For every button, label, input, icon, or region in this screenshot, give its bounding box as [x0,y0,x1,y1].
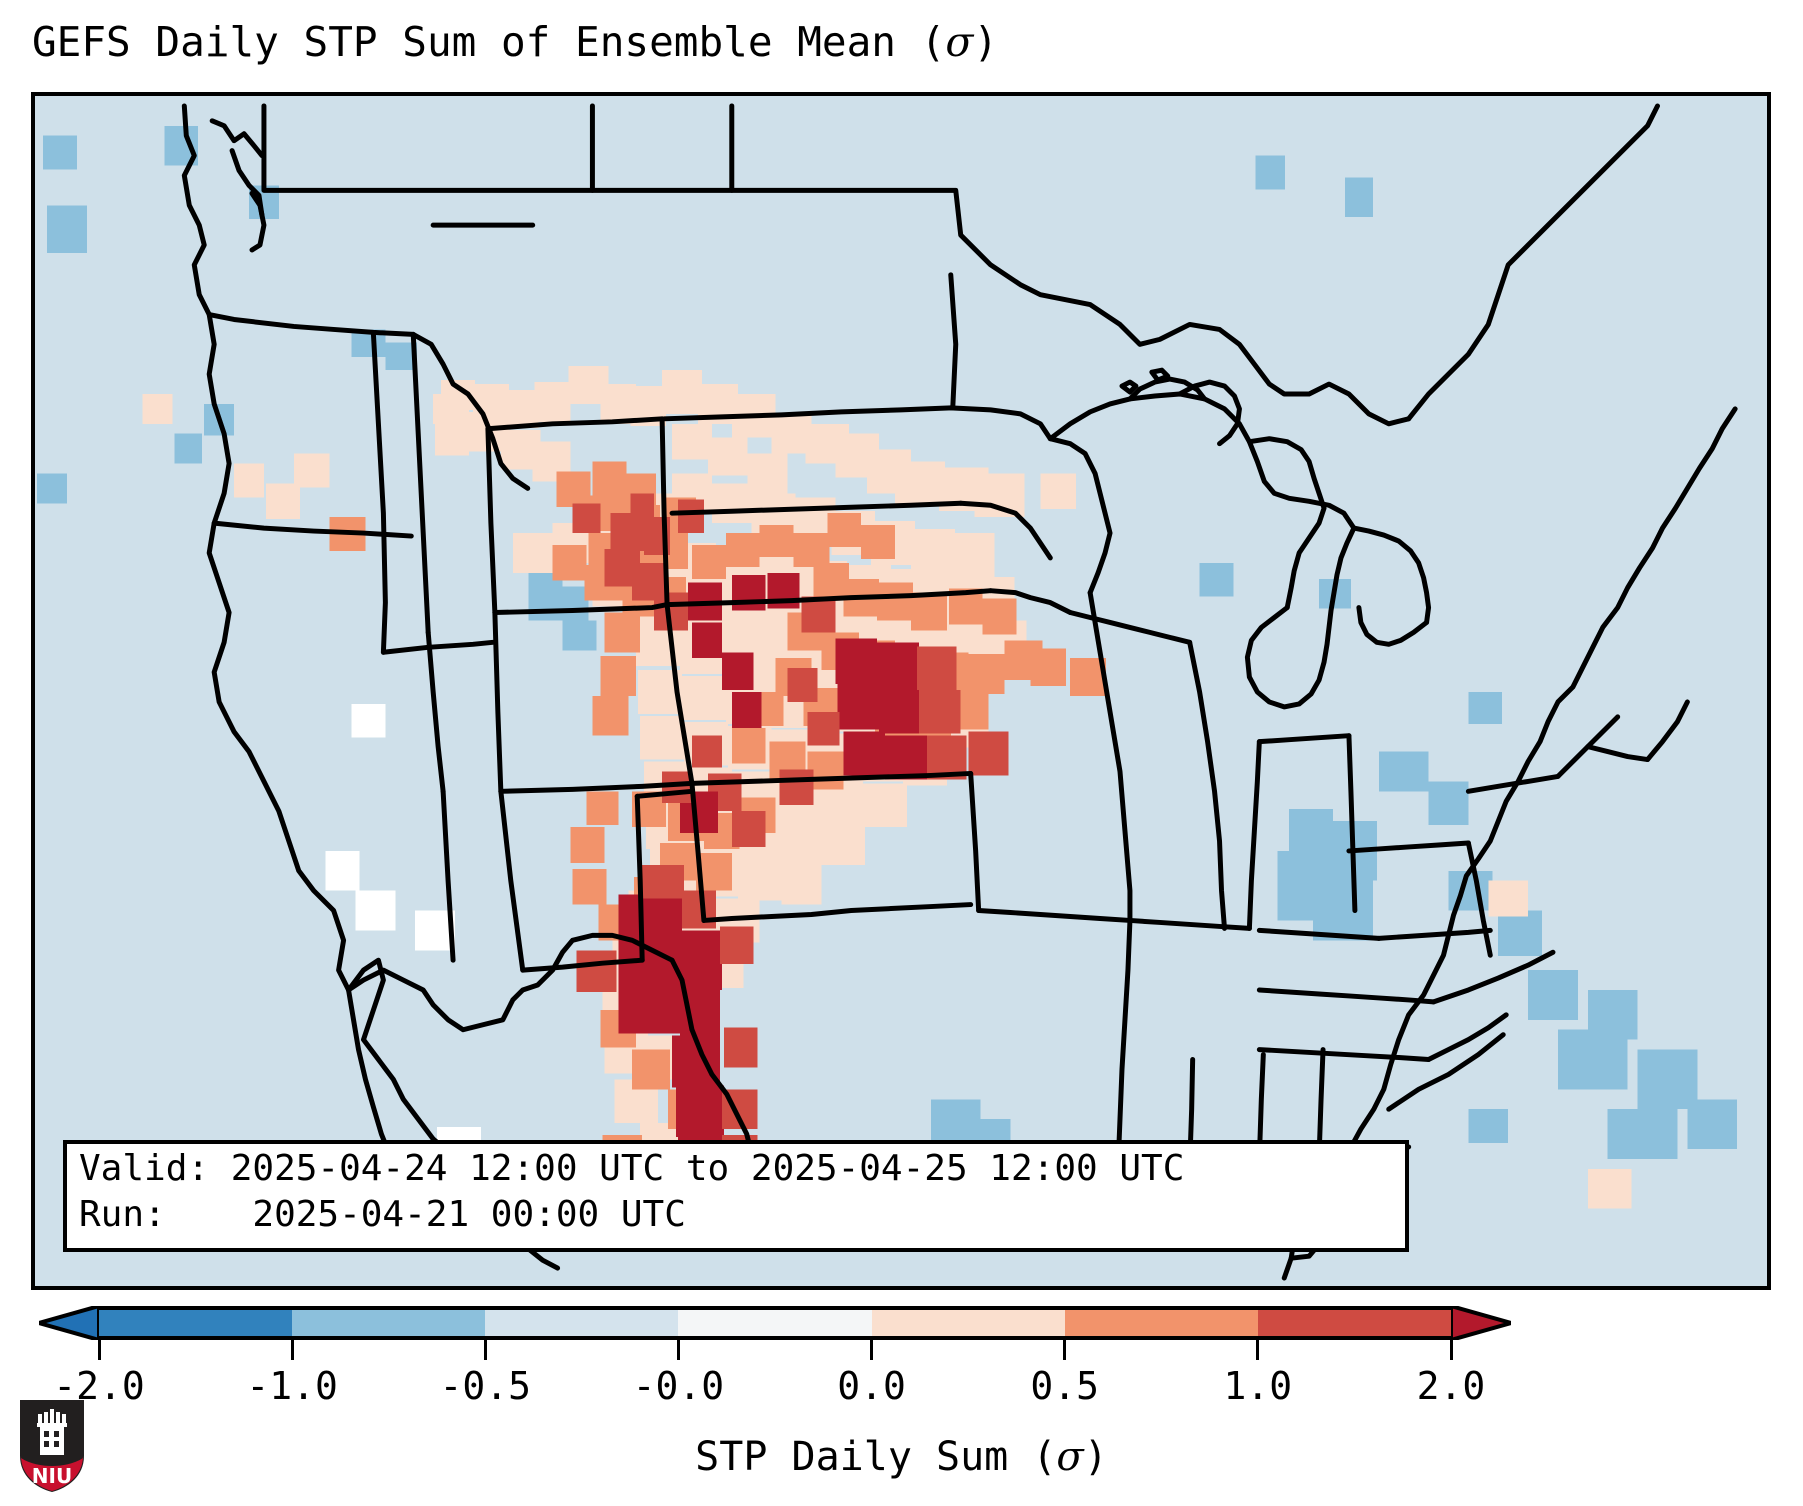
colorbar-label-suffix: ) [1084,1434,1108,1480]
colorbar-segment-3 [678,1310,871,1336]
colorbar-tick-label-1: -1.0 [246,1364,338,1408]
colorbar-ticks [99,1340,1451,1360]
colorbar-region: STP Daily Sum (σ) -2.0-1.0-0.5-0.00.00.5… [0,1306,1803,1506]
page-title: GEFS Daily STP Sum of Ensemble Mean (σ) [32,18,998,66]
map-panel[interactable] [31,92,1771,1290]
colorbar-tick-0 [98,1340,101,1360]
colorbar-track[interactable] [99,1306,1451,1340]
colorbar-segment-6 [1258,1310,1451,1336]
colorbar-segment-4 [872,1310,1065,1336]
colorbar-tick-3 [677,1340,680,1360]
colorbar-axis-label: STP Daily Sum (σ) [0,1434,1803,1480]
colorbar-tick-5 [1063,1340,1066,1360]
colorbar-extend-min-arrow [39,1306,99,1340]
title-suffix: ) [973,18,998,66]
figure-root: GEFS Daily STP Sum of Ensemble Mean (σ) [0,0,1803,1506]
colorbar-tick-label-5: 0.5 [1030,1364,1099,1408]
colorbar-tick-7 [1450,1340,1453,1360]
colorbar-segment-5 [1065,1310,1258,1336]
logo-text: NIU [32,1464,72,1488]
logo-castle [37,1409,67,1455]
colorbar-segment-1 [292,1310,485,1336]
colorbar-tick-label-2: -0.5 [440,1364,532,1408]
forecast-info-box: Valid: 2025-04-24 12:00 UTC to 2025-04-2… [63,1140,1409,1252]
title-sigma-symbol: σ [945,18,973,66]
run-time-line: Run: 2025-04-21 00:00 UTC [79,1194,686,1235]
colorbar-segment-2 [485,1310,678,1336]
colorbar-tick-label-4: 0.0 [837,1364,906,1408]
colorbar-tick-label-7: 2.0 [1417,1364,1486,1408]
colorbar-tick-label-3: -0.0 [633,1364,725,1408]
colorbar-tick-1 [291,1340,294,1360]
colorbar-tick-6 [1256,1340,1259,1360]
colorbar-segment-0 [99,1310,292,1336]
valid-time-line: Valid: 2025-04-24 12:00 UTC to 2025-04-2… [79,1148,1184,1189]
colorbar-tick-label-6: 1.0 [1224,1364,1293,1408]
colorbar-tick-4 [870,1340,873,1360]
colorbar-sigma-symbol: σ [1056,1434,1083,1480]
niu-logo: NIU [16,1398,88,1494]
title-prefix: GEFS Daily STP Sum of Ensemble Mean ( [32,18,945,66]
colorbar-extend-max-arrow [1451,1306,1511,1340]
colorbar[interactable] [99,1306,1451,1340]
colorbar-label-prefix: STP Daily Sum ( [695,1434,1056,1480]
map-svg [35,96,1767,1286]
colorbar-tick-2 [484,1340,487,1360]
